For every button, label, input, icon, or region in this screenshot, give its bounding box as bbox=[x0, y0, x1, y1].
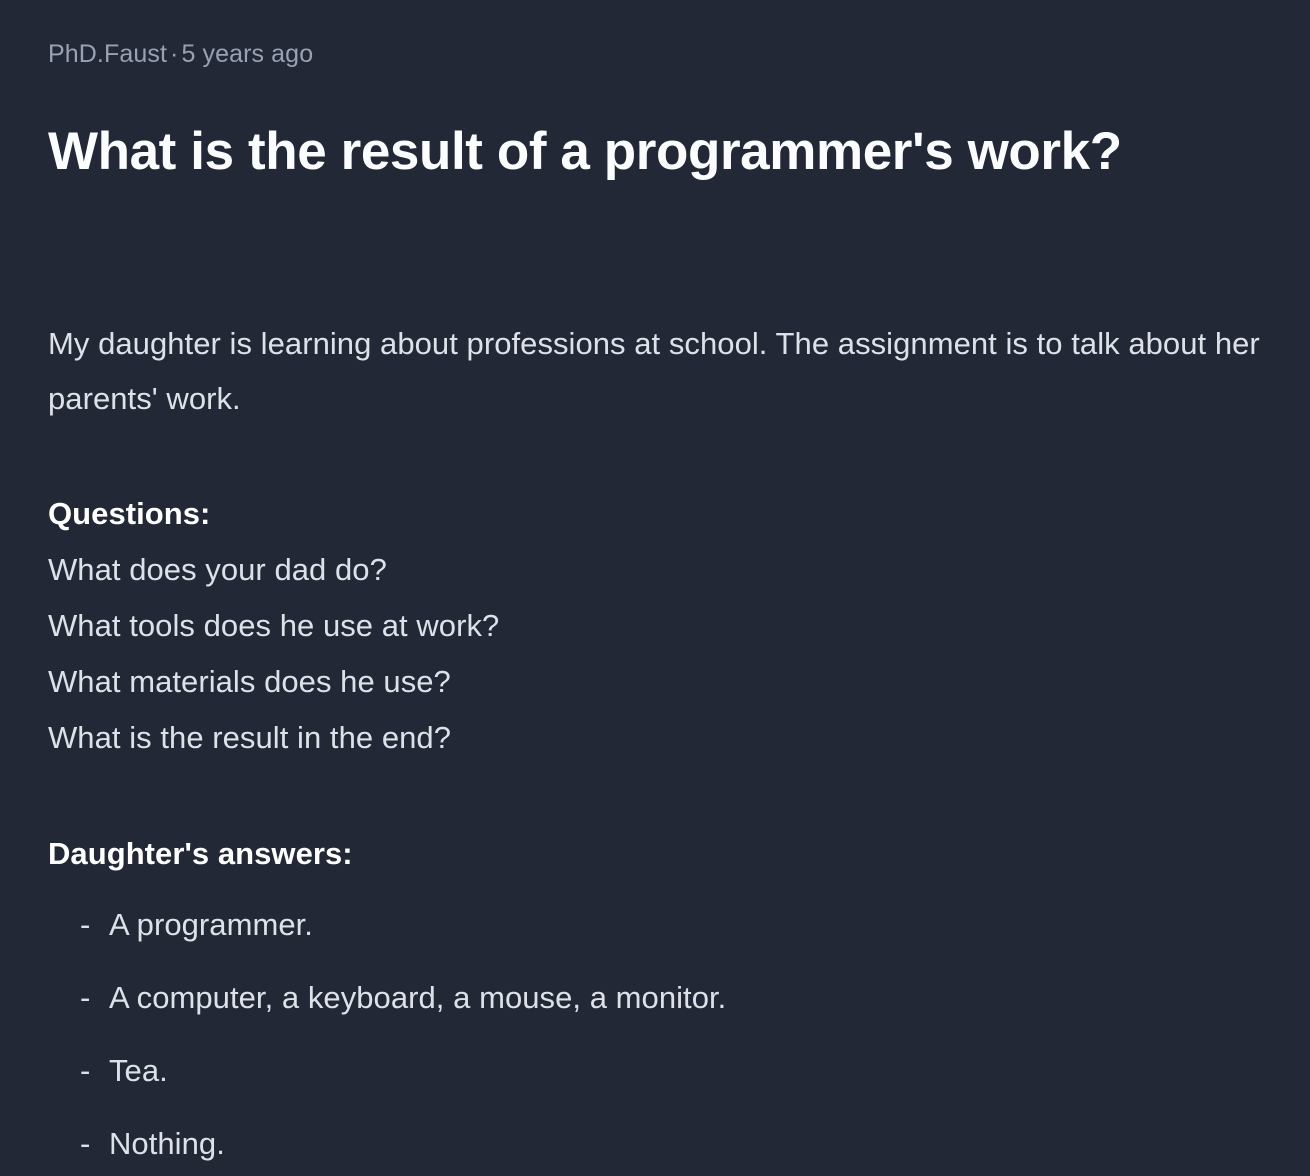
list-item: - A computer, a keyboard, a mouse, a mon… bbox=[48, 977, 1268, 1019]
post-body: My daughter is learning about profession… bbox=[48, 316, 1268, 1165]
list-item: - Nothing. bbox=[48, 1123, 1268, 1165]
answers-heading: Daughter's answers: bbox=[48, 826, 1268, 882]
questions-list: What does your dad do? What tools does h… bbox=[48, 542, 1268, 766]
answer-text: Tea. bbox=[109, 1050, 1268, 1092]
list-item: What materials does he use? bbox=[48, 654, 1268, 710]
page-title: What is the result of a programmer's wor… bbox=[48, 118, 1158, 186]
questions-section: Questions: What does your dad do? What t… bbox=[48, 486, 1268, 766]
byline-author: PhD.Faust bbox=[48, 40, 167, 68]
answer-text: A programmer. bbox=[109, 904, 1268, 946]
answers-section: Daughter's answers: - A programmer. - A … bbox=[48, 826, 1268, 1165]
post-container: PhD.Faust·5 years ago What is the result… bbox=[0, 0, 1310, 1176]
post-byline: PhD.Faust·5 years ago bbox=[48, 38, 313, 70]
answer-text: A computer, a keyboard, a mouse, a monit… bbox=[109, 977, 1268, 1019]
bullet-dash: - bbox=[80, 1123, 109, 1165]
list-item: What tools does he use at work? bbox=[48, 598, 1268, 654]
byline-timestamp: 5 years ago bbox=[181, 40, 313, 68]
bullet-dash: - bbox=[80, 904, 109, 946]
list-item: What does your dad do? bbox=[48, 542, 1268, 598]
list-item: What is the result in the end? bbox=[48, 710, 1268, 766]
bullet-dash: - bbox=[80, 1050, 109, 1092]
list-item: - Tea. bbox=[48, 1050, 1268, 1092]
list-item: - A programmer. bbox=[48, 904, 1268, 946]
intro-paragraph: My daughter is learning about profession… bbox=[48, 316, 1268, 426]
bullet-dash: - bbox=[80, 977, 109, 1019]
answers-list: - A programmer. - A computer, a keyboard… bbox=[48, 904, 1268, 1165]
answer-text: Nothing. bbox=[109, 1123, 1268, 1165]
questions-heading: Questions: bbox=[48, 486, 1268, 542]
byline-separator: · bbox=[167, 40, 181, 68]
